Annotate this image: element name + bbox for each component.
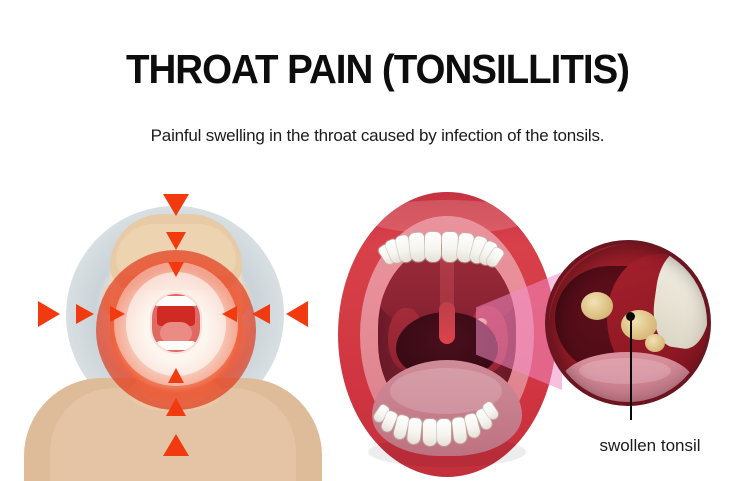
tooth bbox=[409, 232, 427, 262]
pain-arrow-up-2 bbox=[166, 398, 186, 416]
lower-teeth bbox=[374, 408, 520, 435]
page-title: THROAT PAIN (TONSILLITIS) bbox=[23, 44, 733, 94]
pain-arrow-down-3 bbox=[168, 262, 184, 277]
pain-arrow-down-2 bbox=[166, 232, 186, 250]
pain-arrow-down-1 bbox=[163, 194, 189, 216]
pain-arrow-right-1 bbox=[38, 301, 60, 327]
page-subtitle: Painful swelling in the throat caused by… bbox=[0, 124, 755, 148]
small-open-mouth bbox=[150, 292, 202, 354]
pain-arrow-right-2 bbox=[76, 304, 94, 324]
head-figure bbox=[18, 188, 328, 481]
pain-arrow-right-3 bbox=[110, 306, 125, 322]
uvula bbox=[439, 302, 455, 344]
pain-arrow-up-1 bbox=[163, 434, 189, 456]
pain-arrow-left-2 bbox=[252, 304, 270, 324]
callout-leader-line bbox=[630, 320, 632, 420]
tooth bbox=[423, 419, 437, 446]
small-upper-teeth bbox=[154, 296, 198, 306]
pain-arrow-left-1 bbox=[286, 301, 308, 327]
tooth bbox=[425, 232, 441, 262]
small-lower-teeth bbox=[156, 341, 196, 350]
small-tongue bbox=[160, 322, 192, 342]
magnified-tonsil-circle bbox=[545, 240, 711, 406]
upper-teeth bbox=[372, 232, 522, 262]
pain-arrow-left-3 bbox=[222, 306, 237, 322]
swollen-tonsil-label: swollen tonsil bbox=[540, 436, 755, 456]
tooth bbox=[437, 419, 451, 446]
infographic-canvas: THROAT PAIN (TONSILLITIS) Painful swelli… bbox=[0, 0, 755, 481]
tooth bbox=[442, 232, 458, 262]
pain-arrow-up-3 bbox=[168, 368, 184, 383]
